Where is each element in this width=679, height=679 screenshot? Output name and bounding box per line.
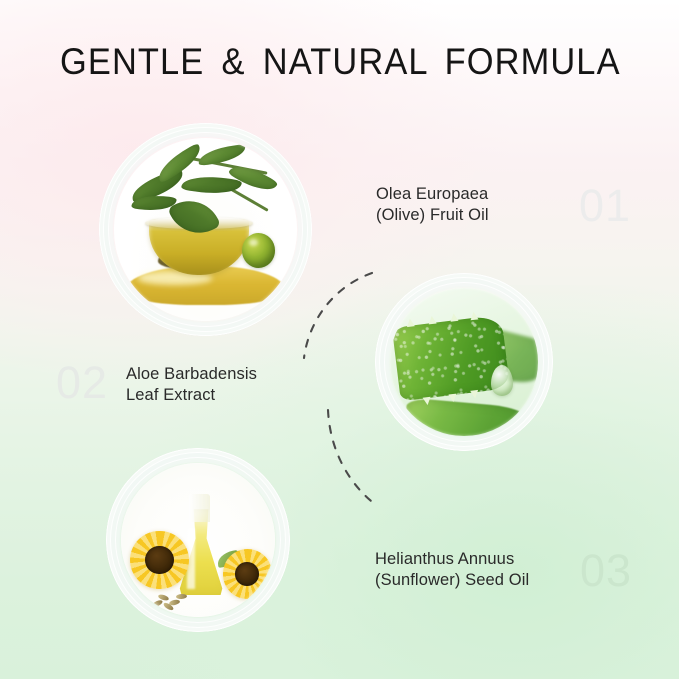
aloe-image-inner (390, 288, 538, 436)
aloe-spike (428, 315, 437, 324)
sunflower-oil-scene (121, 463, 275, 617)
olive-oil-scene (114, 138, 297, 321)
aloe-spike (469, 311, 478, 320)
sunflower-bloom (130, 531, 189, 590)
connector-arcs (0, 0, 679, 679)
page-title: GENTLE & NATURAL FORMULA (60, 41, 621, 83)
sunflower-image-inner (121, 463, 275, 617)
aloe-water-droplet (491, 365, 513, 396)
aloe-vera-scene (390, 288, 538, 436)
ingredient-number-03: 03 (580, 548, 632, 593)
aloe-spike (449, 393, 458, 402)
sunflower-bloom (223, 549, 272, 598)
ingredient-label-sunflower: Helianthus Annuus (Sunflower) Seed Oil (375, 549, 529, 591)
ingredient-label-aloe: Aloe Barbadensis Leaf Extract (126, 364, 257, 406)
dashed-arc-aloe-to-sunflower (328, 410, 376, 505)
dashed-arc-olive-to-aloe (304, 273, 372, 358)
aloe-spike (406, 318, 415, 327)
ingredient-image-sunflower (106, 448, 290, 632)
olive-fruit (242, 233, 275, 268)
ingredient-image-aloe (375, 273, 553, 451)
carafe-neck (189, 494, 211, 522)
ingredient-infographic-poster: GENTLE & NATURAL FORMULA (0, 0, 679, 679)
ingredient-label-olive: Olea Europaea (Olive) Fruit Oil (376, 184, 489, 226)
olive-image-inner (114, 138, 297, 321)
aloe-spike (422, 396, 431, 405)
sunflower-center (145, 546, 173, 574)
ingredient-image-olive (99, 123, 312, 336)
ingredient-number-01: 01 (579, 183, 631, 228)
sunflower-center (235, 562, 259, 586)
aloe-spike (450, 312, 459, 321)
ingredient-number-02: 02 (56, 360, 108, 405)
aloe-spike (470, 389, 479, 398)
